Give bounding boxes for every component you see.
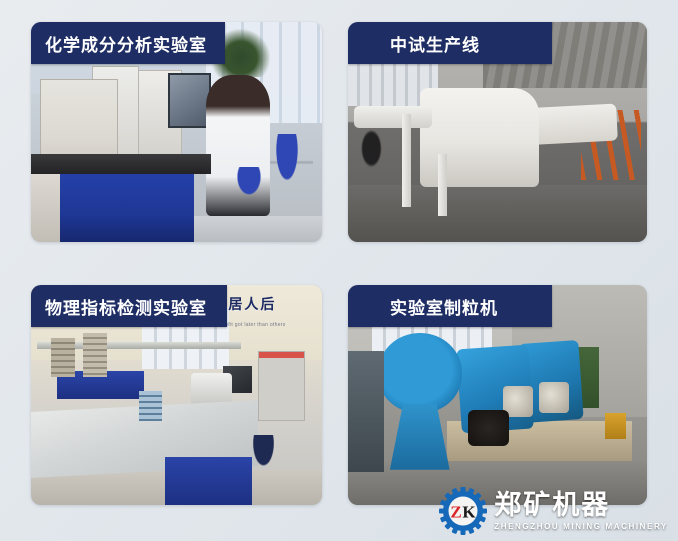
support-post-2	[438, 154, 447, 216]
disc-pelletizer-base	[390, 404, 450, 470]
yellow-bucket-decor	[605, 413, 626, 439]
lab-cabinet-blue	[48, 174, 194, 242]
logo-letter-z: Z	[451, 503, 462, 522]
sieve-stack-1	[51, 338, 74, 378]
card-label-text: 实验室制粒机	[348, 294, 512, 319]
material-bag-decor	[468, 410, 510, 445]
logo-name-cn: 郑矿机器	[494, 492, 668, 519]
card-label-laboratory-granulator: 实验室制粒机	[348, 285, 552, 327]
lab-stool-2	[223, 167, 275, 215]
company-logo: Z K 郑矿机器 ZHENGZHOU MINING MACHINERY	[434, 483, 672, 539]
lab-stool	[243, 435, 284, 488]
card-chemical-analysis-lab[interactable]: 化学成分分析实验室	[31, 22, 322, 242]
compression-testing-machine	[258, 351, 305, 421]
control-cabinet	[348, 351, 384, 472]
logo-letter-k: K	[463, 503, 477, 522]
card-label-text: 化学成分分析实验室	[31, 31, 221, 56]
image-grid: 化学成分分析实验室 中试生产线 · 利居人后 rking Profit got …	[0, 0, 678, 541]
granulator-bowl-2	[539, 382, 569, 413]
card-label-text: 物理指标检测实验室	[31, 294, 221, 319]
logo-name-en: ZHENGZHOU MINING MACHINERY	[494, 523, 668, 531]
disc-pelletizer	[378, 333, 462, 412]
sieve-stack-2	[83, 333, 106, 377]
card-label-chemical-analysis-lab: 化学成分分析实验室	[31, 22, 225, 64]
monitor-decor	[168, 73, 212, 128]
lab-cabinet-white	[31, 174, 60, 242]
card-label-physical-index-testing-lab: 物理指标检测实验室	[31, 285, 227, 327]
card-label-pilot-production-line: 中试生产线	[348, 22, 552, 64]
sieve-stack-3	[139, 391, 162, 422]
card-physical-index-testing-lab[interactable]: · 利居人后 rking Profit got later than other…	[31, 285, 322, 505]
lab-cabinet-lower	[165, 457, 252, 505]
card-laboratory-granulator[interactable]: 实验室制粒机	[348, 285, 647, 505]
card-label-text: 中试生产线	[348, 31, 494, 56]
black-hose-decor	[357, 88, 405, 209]
logo-wordmark: 郑矿机器 ZHENGZHOU MINING MACHINERY	[494, 492, 668, 531]
lab-bench-top	[31, 154, 211, 174]
card-pilot-production-line[interactable]: 中试生产线	[348, 22, 647, 242]
gear-icon: Z K	[438, 486, 488, 536]
